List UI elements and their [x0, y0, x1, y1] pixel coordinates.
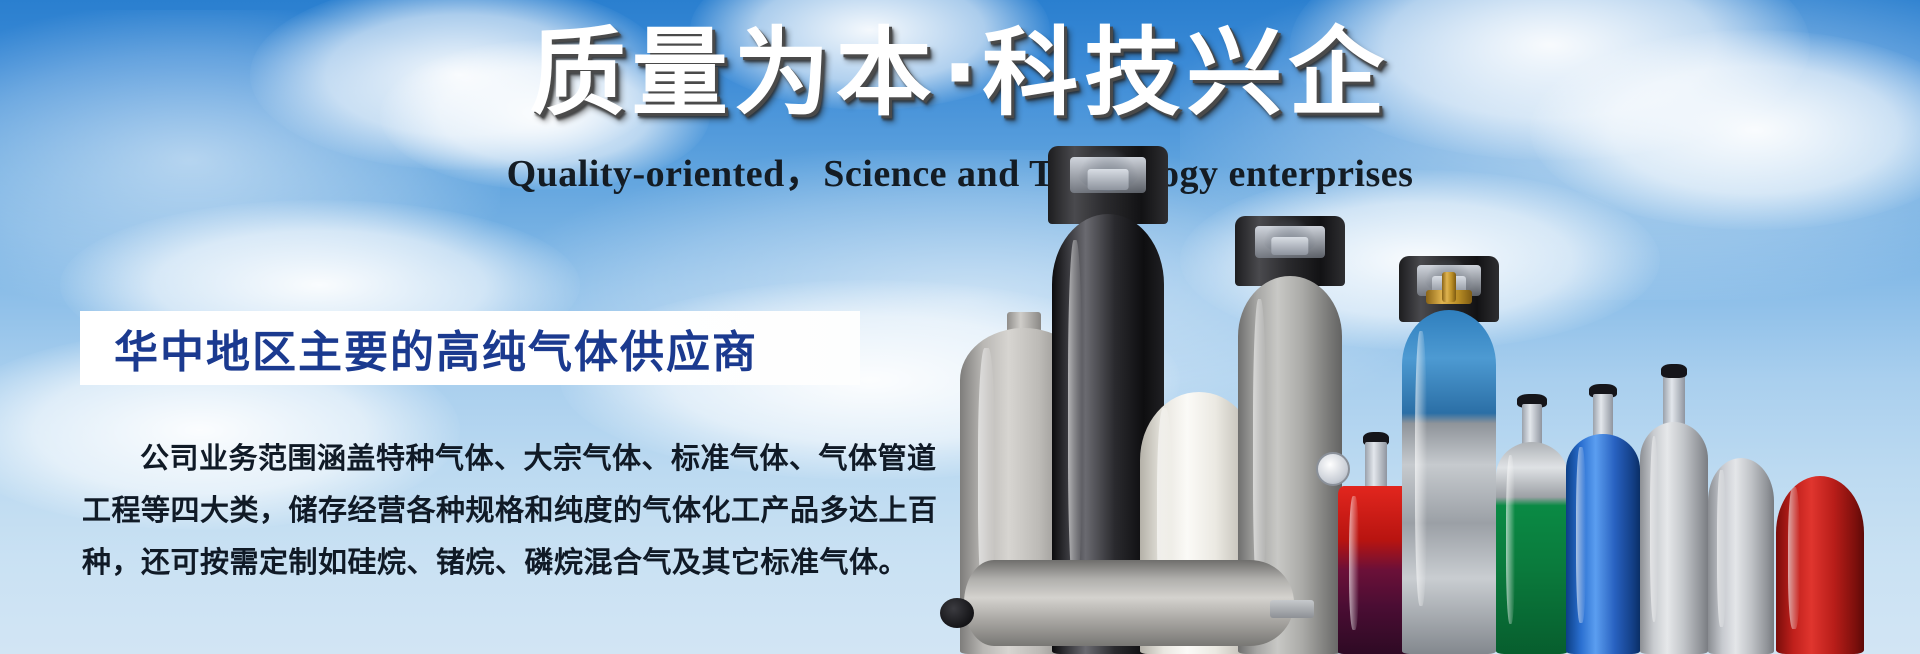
cylinder-body — [1640, 422, 1708, 654]
cylinder-blue-bright-small — [1566, 376, 1640, 654]
cylinder-blue-silver-tall — [1402, 258, 1496, 654]
cylinder-red-round — [1776, 476, 1864, 654]
cylinder-body — [1402, 310, 1496, 654]
headline-part-1: 质量为本 — [530, 17, 938, 129]
cylinder-green-silver-small — [1496, 386, 1568, 654]
brass-valve-stem-icon — [1442, 272, 1456, 302]
pressure-gauge — [1316, 452, 1350, 486]
cylinder-body — [1566, 434, 1640, 654]
description-line-2: 工程等四大类，储存经营各种规格和纯度的气体化工产品多达上百 — [82, 484, 882, 536]
description-paragraph: 公司业务范围涵盖特种气体、大宗气体、标准气体、气体管道 工程等四大类，储存经营各… — [82, 432, 882, 588]
promo-banner: 质量为本·科技兴企 Quality-oriented，Science and T… — [0, 0, 1920, 654]
tagline-box: 华中地区主要的高纯气体供应商 — [80, 311, 860, 385]
gas-cylinders-group — [940, 0, 1920, 654]
cylinder-body — [1496, 442, 1568, 654]
cylinder-aluminium-small — [1640, 358, 1708, 654]
tagline-text: 华中地区主要的高纯气体供应商 — [80, 316, 758, 380]
cylinder-aluminium-short — [1708, 458, 1774, 654]
cylinder-body — [1776, 476, 1864, 654]
cylinder-grey-lying-tank — [964, 560, 1294, 646]
cylinder-cap-cutout — [1076, 146, 1141, 191]
description-line-3: 种，还可按需定制如硅烷、锗烷、磷烷混合气及其它标准气体。 — [82, 536, 882, 588]
cylinder-cap-cutout — [1261, 216, 1318, 255]
cylinder-body — [1708, 458, 1774, 654]
cylinder-valve — [1365, 442, 1387, 492]
description-line-1: 公司业务范围涵盖特种气体、大宗气体、标准气体、气体管道 — [82, 432, 882, 484]
cylinder-cap — [1048, 146, 1168, 224]
cylinder-tank-neck — [1270, 600, 1314, 618]
cylinder-valve-knob — [1661, 364, 1687, 378]
cylinder-tank-valve — [940, 598, 974, 628]
